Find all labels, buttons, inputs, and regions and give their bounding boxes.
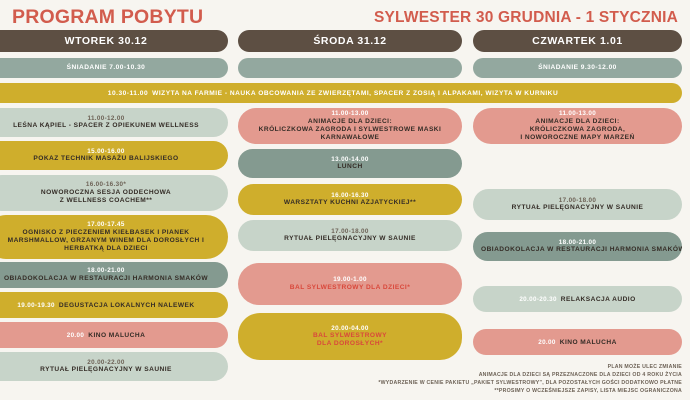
breakfast-thursday: ŚNIADANIE 9.30-12.00 [473, 58, 682, 78]
event-time: 18.00-21.00 [0, 267, 220, 275]
event-time: 11.00-13.00 [481, 110, 674, 118]
footnote-line: ANIMACJE DLA DZIECI SĄ PRZEZNACZONE DLA … [378, 371, 682, 379]
tuesday-event-6: 19.00-19.30 DEGUSTACJA LOKALNYCH NALEWEK [0, 292, 228, 318]
tuesday-event-7: 20.00 KINO MALUCHA [0, 322, 228, 348]
event-desc: LUNCH [246, 163, 454, 171]
page-title: PROGRAM POBYTU [12, 5, 203, 30]
breakfast-label: ŚNIADANIE 9.30-12.00 [481, 64, 674, 72]
event-desc: OGNISKO Z PIECZENIEM KIEŁBASEK I PIANEK [0, 229, 220, 237]
event-desc: KARNAWAŁOWE [246, 134, 454, 142]
event-desc: BAL SYLWESTROWY DLA DZIECI* [246, 284, 454, 292]
farm-visit-banner: 10.30-11.00 WIZYTA NA FARMIE - NAUKA OBC… [0, 83, 682, 103]
day-header-wednesday: ŚRODA 31.12 [238, 30, 462, 52]
event-time: 20.00 [67, 332, 85, 339]
event-time: 19.00-19.30 [17, 302, 54, 309]
event-inline: 20.00-20.30 RELAKSACJA AUDIO [481, 296, 674, 303]
breakfast-wednesday-blank [238, 58, 462, 78]
thursday-event-2: 17.00-18.00 RYTUAŁ PIELĘGNACYJNY W SAUNI… [473, 189, 682, 220]
wednesday-event-3: 16.00-16.30 WARSZTATY KUCHNI AZJATYCKIEJ… [238, 184, 462, 215]
farm-visit-time: 10.30-11.00 [108, 90, 148, 97]
event-desc: NOWOROCZNA SESJA ODDECHOWA [0, 189, 220, 197]
event-desc: Z WELLNESS COACHEM** [0, 197, 220, 205]
event-desc: KINO MALUCHA [88, 332, 145, 339]
page-subtitle: SYLWESTER 30 GRUDNIA - 1 STYCZNIA [374, 6, 678, 30]
event-inline: 20.00 KINO MALUCHA [0, 332, 220, 339]
event-desc: KRÓLICZKOWA ZAGRODA I SYLWESTROWE MASKI [246, 126, 454, 134]
event-desc: ANIMACJE DLA DZIECI: [246, 118, 454, 126]
event-desc: RYTUAŁ PIELĘGNACYJNY W SAUNIE [246, 235, 454, 243]
event-desc: OBIADOKOLACJA W RESTAURACJI HARMONIA SMA… [481, 246, 674, 254]
footnote-line: **PROSIMY O WCZEŚNIEJSZE ZAPISY, LISTA M… [378, 387, 682, 395]
event-desc: DLA DOROSŁYCH* [246, 340, 454, 348]
event-time: 11.00-13.00 [246, 110, 454, 118]
wednesday-event-6: 20.00-04.00 BAL SYLWESTROWY DLA DOROSŁYC… [238, 313, 462, 360]
event-desc: DEGUSTACJA LOKALNYCH NALEWEK [59, 302, 195, 309]
thursday-event-3: 18.00-21.00 OBIADOKOLACJA W RESTAURACJI … [473, 232, 682, 261]
wednesday-event-4: 17.00-18.00 RYTUAŁ PIELĘGNACYJNY W SAUNI… [238, 220, 462, 251]
event-desc: ANIMACJE DLA DZIECI: [481, 118, 674, 126]
thursday-event-5: 20.00 KINO MALUCHA [473, 329, 682, 355]
event-desc: WARSZTATY KUCHNI AZJATYCKIEJ** [246, 199, 454, 207]
event-desc: RYTUAŁ PIELĘGNACYJNY W SAUNIE [0, 366, 220, 374]
program-poster: PROGRAM POBYTU SYLWESTER 30 GRUDNIA - 1 … [0, 0, 690, 400]
day-header-label: ŚRODA 31.12 [246, 35, 454, 48]
day-header-label: CZWARTEK 1.01 [481, 35, 674, 48]
breakfast-tuesday: ŚNIADANIE 7.00-10.30 [0, 58, 228, 78]
breakfast-label: ŚNIADANIE 7.00-10.30 [0, 64, 220, 72]
tuesday-event-4: 17.00-17.45 OGNISKO Z PIECZENIEM KIEŁBAS… [0, 215, 228, 259]
day-header-thursday: CZWARTEK 1.01 [473, 30, 682, 52]
farm-visit-label: WIZYTA NA FARMIE - NAUKA OBCOWANIA ZE ZW… [152, 90, 558, 97]
tuesday-event-3: 16.00-16.30* NOWOROCZNA SESJA ODDECHOWA … [0, 175, 228, 211]
thursday-event-4: 20.00-20.30 RELAKSACJA AUDIO [473, 286, 682, 312]
event-time: 17.00-17.45 [0, 221, 220, 229]
wednesday-event-5: 19.00-1.00 BAL SYLWESTROWY DLA DZIECI* [238, 263, 462, 305]
poster-header: PROGRAM POBYTU SYLWESTER 30 GRUDNIA - 1 … [0, 5, 690, 30]
tuesday-event-8: 20.00-22.00 RYTUAŁ PIELĘGNACYJNY W SAUNI… [0, 352, 228, 381]
event-desc: BAL SYLWESTROWY [246, 332, 454, 340]
footnote-line: *WYDARZENIE W CENIE PAKIETU „PAKIET SYLW… [378, 379, 682, 387]
day-header-label: WTOREK 30.12 [0, 35, 220, 48]
event-time: 17.00-18.00 [246, 228, 454, 236]
wednesday-event-1: 11.00-13.00 ANIMACJE DLA DZIECI: KRÓLICZ… [238, 108, 462, 144]
event-inline: 20.00 KINO MALUCHA [481, 339, 674, 346]
event-desc: POKAZ TECHNIK MASAŻU BALIJSKIEGO [0, 155, 220, 163]
event-desc: HERBATKĄ DLA DZIECI [0, 245, 220, 253]
event-desc: MARSHMALLOW, GRZANYM WINEM DLA DOROSŁYCH… [0, 237, 220, 245]
event-desc: I NOWOROCZNE MAPY MARZEŃ [481, 134, 674, 142]
event-time: 20.00-20.30 [519, 296, 556, 303]
event-time: 16.00-16.30 [246, 192, 454, 200]
event-time: 13.00-14.00 [246, 156, 454, 164]
tuesday-event-1: 11.00-12.00 LEŚNA KĄPIEL - SPACER Z OPIE… [0, 108, 228, 137]
event-desc: OBIADOKOLACJA W RESTAURACJI HARMONIA SMA… [0, 275, 220, 283]
event-inline: 19.00-19.30 DEGUSTACJA LOKALNYCH NALEWEK [0, 302, 220, 309]
event-desc: RYTUAŁ PIELĘGNACYJNY W SAUNIE [481, 204, 674, 212]
event-desc: KRÓLICZKOWA ZAGRODA, [481, 126, 674, 134]
day-header-tuesday: WTOREK 30.12 [0, 30, 228, 52]
footnotes: PLAN MOŻE ULEC ZMIANIE ANIMACJE DLA DZIE… [378, 363, 682, 395]
wednesday-event-2: 13.00-14.00 LUNCH [238, 149, 462, 178]
event-time: 20.00-04.00 [246, 325, 454, 333]
tuesday-event-2: 15.00-16.00 POKAZ TECHNIK MASAŻU BALIJSK… [0, 141, 228, 170]
event-desc: RELAKSACJA AUDIO [561, 296, 636, 303]
footnote-line: PLAN MOŻE ULEC ZMIANIE [378, 363, 682, 371]
tuesday-event-5: 18.00-21.00 OBIADOKOLACJA W RESTAURACJI … [0, 262, 228, 288]
event-time: 20.00-22.00 [0, 359, 220, 367]
event-time: 20.00 [538, 339, 556, 346]
event-desc: KINO MALUCHA [560, 339, 617, 346]
event-time: 17.00-18.00 [481, 197, 674, 205]
event-time: 19.00-1.00 [246, 276, 454, 284]
event-time: 16.00-16.30* [0, 181, 220, 189]
thursday-event-1: 11.00-13.00 ANIMACJE DLA DZIECI: KRÓLICZ… [473, 108, 682, 144]
event-desc: LEŚNA KĄPIEL - SPACER Z OPIEKUNEM WELLNE… [0, 122, 220, 130]
